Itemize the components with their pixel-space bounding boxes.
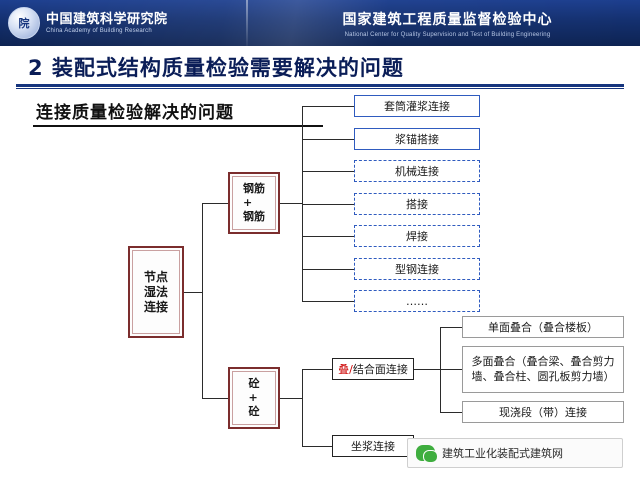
connector-concrete-leaf-2 (302, 446, 332, 447)
connector-rebar-stem (280, 203, 302, 204)
leaf-cast-in-situ-segment: 现浇段（带）连接 (462, 401, 624, 423)
leaf-multi-face-composite: 多面叠合（叠合梁、叠合剪力墙、叠合柱、圆孔板剪力墙） (462, 346, 624, 393)
connector-rebar-leaf-3 (302, 171, 354, 172)
leaf-lap-connection: 搭接 (354, 193, 480, 215)
connector-root-to-branch2 (202, 398, 228, 399)
title-underline-thin (16, 88, 624, 89)
connector-composite-sub-1 (440, 327, 462, 328)
wechat-icon (416, 445, 435, 461)
connector-composite-sub-3 (440, 412, 462, 413)
page-header: 院 中国建筑科学研究院 China Academy of Building Re… (0, 0, 640, 46)
leaf-grout-anchor-lap: 浆锚搭接 (354, 128, 480, 150)
organization-logo-text: 中国建筑科学研究院 China Academy of Building Rese… (46, 12, 168, 34)
leaf-sleeve-grouting-connection: 套筒灌浆连接 (354, 95, 480, 117)
footer-badge: 建筑工业化装配式建筑网 (407, 438, 623, 468)
connector-rebar-leaf-2 (302, 139, 354, 140)
center-title-block: 国家建筑工程质量监督检验中心 National Center for Quali… (255, 0, 640, 46)
leaf-composite-prefix: 叠 (338, 361, 349, 377)
center-name-en: National Center for Quality Supervision … (345, 32, 551, 38)
connector-rebar-leaf-1 (302, 106, 354, 107)
organization-name-cn: 中国建筑科学研究院 (46, 12, 168, 26)
section-subtitle: 连接质量检验解决的问题 (36, 98, 234, 123)
diagram-branch-label-concrete: 砼+砼 (232, 371, 276, 425)
title-underline (16, 84, 624, 87)
diagram-branch-node-rebar: 钢筋+钢筋 (228, 172, 280, 234)
leaf-section-steel-connection: 型钢连接 (354, 258, 480, 280)
diagram-branch-label-rebar: 钢筋+钢筋 (232, 176, 276, 230)
leaf-composite-surface-connection: 叠/结合面连接 (332, 358, 414, 380)
center-name-cn: 国家建筑工程质量监督检验中心 (343, 9, 553, 29)
connector-rebar-leaf-7 (302, 301, 354, 302)
connector-composite-sub-2 (440, 369, 462, 370)
leaf-other-connection: …… (354, 290, 480, 312)
connector-composite-stem (414, 369, 440, 370)
connector-concrete-stem (280, 398, 302, 399)
connector-rebar-leaf-6 (302, 269, 354, 270)
connector-concrete-bus (302, 369, 303, 446)
organization-name-en: China Academy of Building Research (46, 28, 168, 34)
diagram-branch-node-concrete: 砼+砼 (228, 367, 280, 429)
connector-root-bus (202, 203, 203, 398)
leaf-weld-connection: 焊接 (354, 225, 480, 247)
leaf-bedding-mortar-connection: 坐浆连接 (332, 435, 414, 457)
diagram-root-label: 节点湿法连接 (132, 250, 180, 334)
connector-rebar-leaf-4 (302, 204, 354, 205)
leaf-composite-rest: 结合面连接 (353, 361, 408, 377)
academy-seal-icon: 院 (8, 7, 40, 39)
connector-root-to-branch1 (202, 203, 228, 204)
diagram-root-node: 节点湿法连接 (128, 246, 184, 338)
header-divider (246, 0, 248, 46)
footer-badge-text: 建筑工业化装配式建筑网 (442, 445, 563, 461)
connector-root-stem (184, 292, 202, 293)
connector-concrete-leaf-1 (302, 369, 332, 370)
leaf-mechanical-connection: 机械连接 (354, 160, 480, 182)
page-title: 2 装配式结构质量检验需要解决的问题 (28, 52, 404, 82)
leaf-single-face-composite: 单面叠合（叠合楼板） (462, 316, 624, 338)
connector-rebar-leaf-5 (302, 236, 354, 237)
subtitle-underline (33, 125, 323, 127)
organization-logo: 院 中国建筑科学研究院 China Academy of Building Re… (8, 4, 168, 42)
